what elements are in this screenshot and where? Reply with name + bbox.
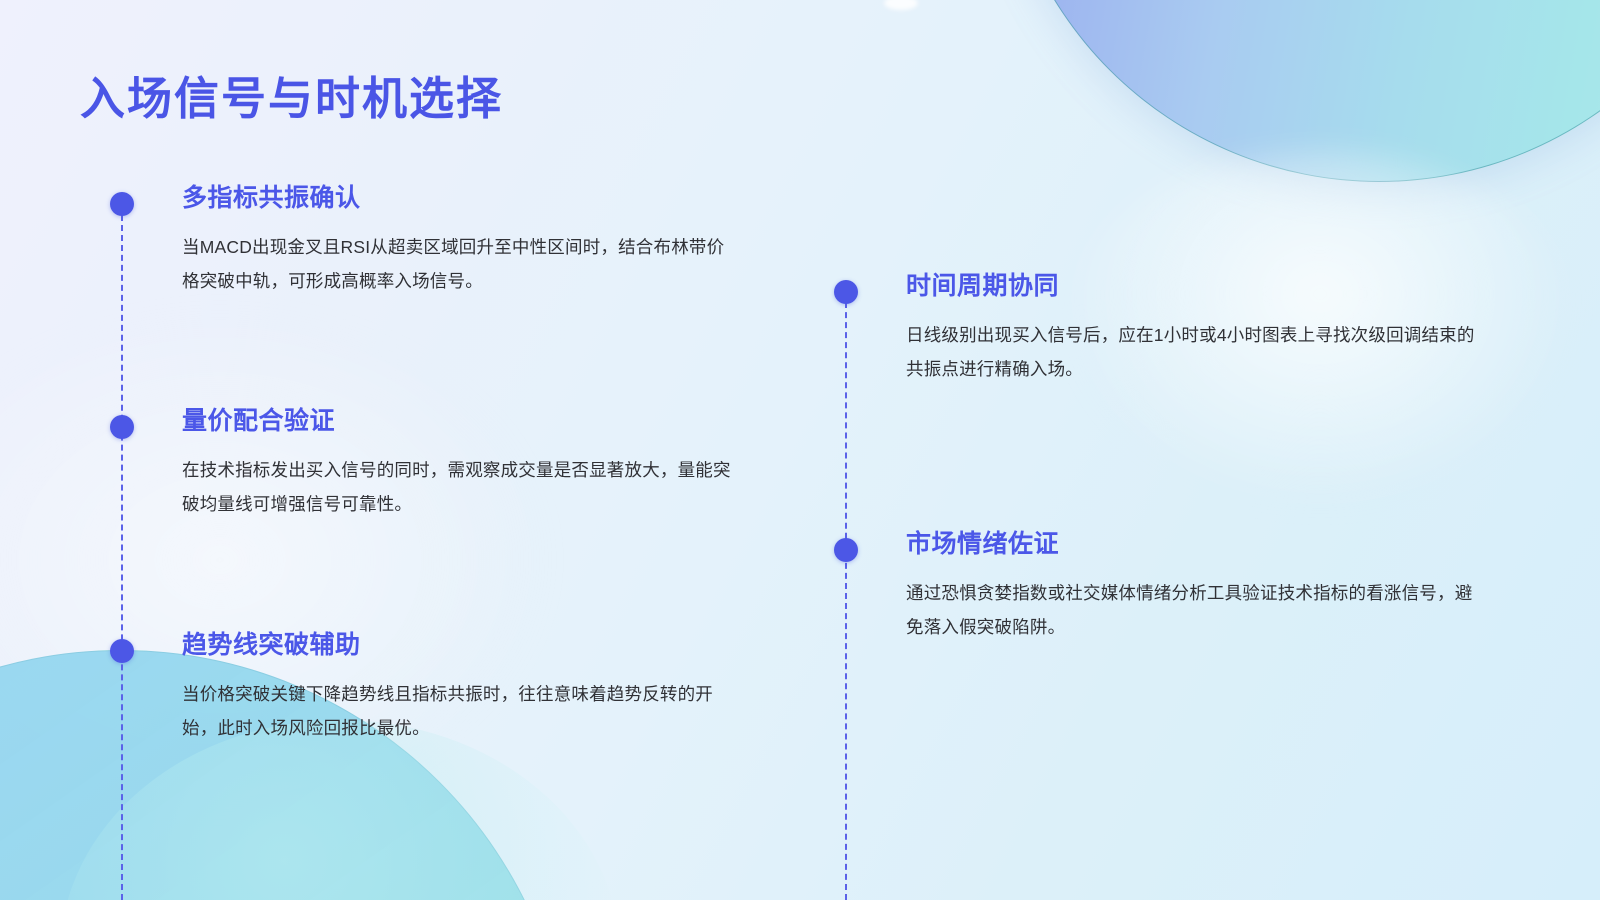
timeline-item-title: 时间周期协同 xyxy=(906,271,1504,301)
timeline-item-3[interactable]: 趋势线突破辅助 当价格突破关键下降趋势线且指标共振时，往往意味着趋势反转的开始，… xyxy=(100,639,760,745)
timeline-item-text: 日线级别出现买入信号后，应在1小时或4小时图表上寻找次级回调结束的共振点进行精确… xyxy=(906,318,1476,386)
timeline-item-4[interactable]: 时间周期协同 日线级别出现买入信号后，应在1小时或4小时图表上寻找次级回调结束的… xyxy=(824,280,1504,386)
timeline-item-text: 通过恐惧贪婪指数或社交媒体情绪分析工具验证技术指标的看涨信号，避免落入假突破陷阱… xyxy=(906,576,1476,644)
timeline-bullet-icon xyxy=(110,192,134,216)
timeline-item-text: 在技术指标发出买入信号的同时，需观察成交量是否显著放大，量能突破均量线可增强信号… xyxy=(182,453,738,521)
timeline-item-text: 当MACD出现金叉且RSI从超卖区域回升至中性区间时，结合布林带价格突破中轨，可… xyxy=(182,230,738,298)
timeline-bullet-icon xyxy=(834,280,858,304)
timeline-column-left: 多指标共振确认 当MACD出现金叉且RSI从超卖区域回升至中性区间时，结合布林带… xyxy=(100,0,760,900)
timeline-item-title: 多指标共振确认 xyxy=(182,183,760,213)
timeline-item-title: 市场情绪佐证 xyxy=(906,529,1504,559)
timeline-bullet-icon xyxy=(110,639,134,663)
timeline-item-body: 时间周期协同 日线级别出现买入信号后，应在1小时或4小时图表上寻找次级回调结束的… xyxy=(906,271,1504,386)
timeline-item-2[interactable]: 量价配合验证 在技术指标发出买入信号的同时，需观察成交量是否显著放大，量能突破均… xyxy=(100,415,760,521)
timeline-item-text: 当价格突破关键下降趋势线且指标共振时，往往意味着趋势反转的开始，此时入场风险回报… xyxy=(182,677,738,745)
timeline-item-body: 量价配合验证 在技术指标发出买入信号的同时，需观察成交量是否显著放大，量能突破均… xyxy=(182,406,760,521)
timeline-item-body: 趋势线突破辅助 当价格突破关键下降趋势线且指标共振时，往往意味着趋势反转的开始，… xyxy=(182,630,760,745)
timeline-rail-left xyxy=(121,205,123,900)
timeline-column-right: 时间周期协同 日线级别出现买入信号后，应在1小时或4小时图表上寻找次级回调结束的… xyxy=(824,0,1504,900)
timeline-item-title: 趋势线突破辅助 xyxy=(182,630,760,660)
timeline-item-title: 量价配合验证 xyxy=(182,406,760,436)
slide-canvas: 入场信号与时机选择 多指标共振确认 当MACD出现金叉且RSI从超卖区域回升至中… xyxy=(0,0,1600,900)
timeline-item-body: 多指标共振确认 当MACD出现金叉且RSI从超卖区域回升至中性区间时，结合布林带… xyxy=(182,183,760,298)
timeline-item-1[interactable]: 多指标共振确认 当MACD出现金叉且RSI从超卖区域回升至中性区间时，结合布林带… xyxy=(100,192,760,298)
timeline-item-5[interactable]: 市场情绪佐证 通过恐惧贪婪指数或社交媒体情绪分析工具验证技术指标的看涨信号，避免… xyxy=(824,538,1504,644)
timeline-bullet-icon xyxy=(834,538,858,562)
timeline-bullet-icon xyxy=(110,415,134,439)
timeline-item-body: 市场情绪佐证 通过恐惧贪婪指数或社交媒体情绪分析工具验证技术指标的看涨信号，避免… xyxy=(906,529,1504,644)
